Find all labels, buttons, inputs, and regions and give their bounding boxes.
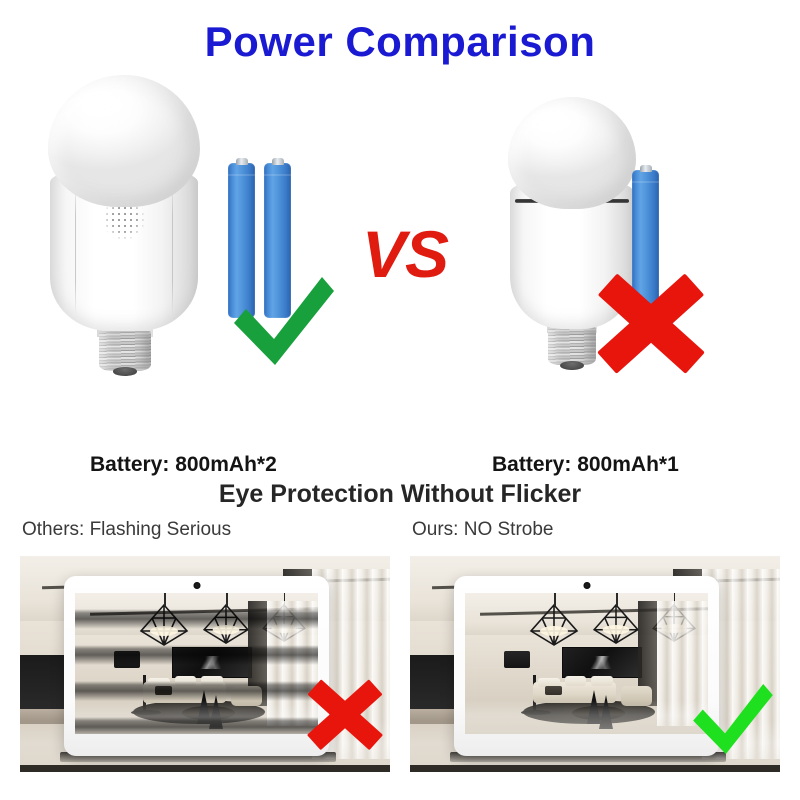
tablet-device-left — [64, 576, 329, 756]
bulb-screw-base-left — [99, 331, 151, 371]
bulb-seam-right — [172, 182, 173, 315]
pendant-cord — [616, 593, 618, 606]
photo-label-others: Others: Flashing Serious — [22, 519, 231, 541]
camera-icon — [583, 582, 590, 589]
pendant-lamp-icon — [591, 604, 641, 644]
wall-artwork — [562, 647, 642, 679]
sofa-cushion — [565, 676, 587, 686]
room-scene-on-screen — [465, 593, 708, 734]
floor-reflection — [75, 700, 318, 734]
green-check-icon — [230, 271, 338, 371]
product-bulb-left — [40, 75, 210, 375]
pendant-lamp-icon — [138, 604, 190, 646]
red-cross-icon — [306, 679, 384, 756]
pendant-lamp-icon — [201, 604, 251, 644]
floor-lamp-shade — [114, 651, 140, 668]
photo-label-ours: Ours: NO Strobe — [412, 519, 554, 541]
pendant-cord — [554, 593, 556, 606]
tablet-screen-left — [75, 593, 318, 734]
sofa-cushion — [175, 676, 197, 686]
flicker-section-heading: Eye Protection Without Flicker — [0, 480, 800, 509]
throw-pillow — [155, 686, 172, 694]
comparison-side-right — [470, 75, 780, 420]
pendant-cord — [164, 593, 166, 606]
red-cross-icon — [596, 273, 706, 375]
bulb-screw-base-right — [548, 327, 596, 365]
green-check-icon — [690, 679, 776, 764]
throw-pillow — [545, 686, 562, 694]
photo-bottom-strip — [410, 765, 780, 772]
pendant-cord — [226, 593, 228, 606]
bulb-glass-dome-left — [48, 75, 200, 207]
page-title: Power Comparison — [0, 18, 800, 66]
flicker-photo-ours — [410, 556, 780, 772]
tablet-device-right — [454, 576, 719, 756]
photo-bottom-strip — [20, 765, 390, 772]
wall-artwork — [172, 647, 252, 679]
battery-caption-left: Battery: 800mAh*2 — [90, 453, 277, 477]
flicker-photo-others — [20, 556, 390, 772]
vs-badge: VS — [345, 221, 465, 287]
pendant-lamp-icon — [528, 604, 580, 646]
sofa-cushion — [201, 676, 223, 686]
bulb-seam-left — [75, 182, 76, 315]
power-comparison-section: VS — [0, 75, 800, 420]
bulb-glass-dome-right — [508, 97, 636, 209]
floor-lamp-shade — [504, 651, 530, 668]
comparison-side-left — [40, 75, 360, 420]
camera-icon — [193, 582, 200, 589]
tablet-screen-right — [465, 593, 708, 734]
floor-reflection — [465, 700, 708, 734]
room-scene-on-screen — [75, 593, 318, 734]
tv-panel — [410, 655, 458, 711]
tv-panel — [20, 655, 68, 711]
battery-caption-right: Battery: 800mAh*1 — [492, 453, 679, 477]
sofa-cushion — [591, 676, 613, 686]
